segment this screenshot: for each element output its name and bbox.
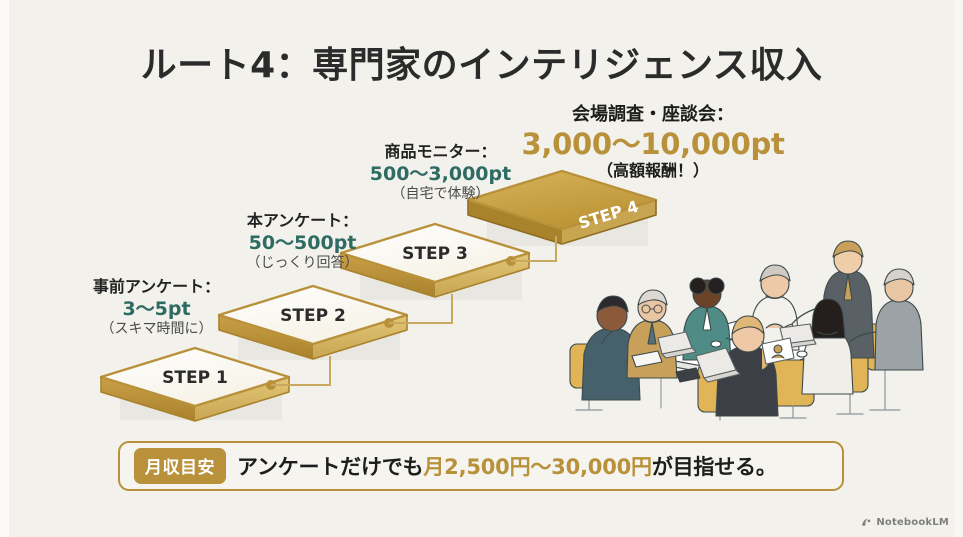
banner-text: アンケートだけでも月2,500円〜30,000円が目指せる。 [237,451,777,481]
platform-step-1[interactable]: STEP 1 [101,348,289,421]
step-1-title: 事前アンケート： [54,278,259,297]
banner-pill-label: 月収目安 [134,448,226,484]
page-title: ルート4：専門家のインテリジェンス収入 [0,36,963,88]
meeting-illustration [566,232,958,424]
connector-dot-step-3 [506,256,516,266]
step-1-value: 3〜5pt [54,298,259,320]
step-2-annotation: 本アンケート： 50〜500pt （じっくり回答） [200,212,405,272]
step-1-note: （スキマ時間に） [54,321,259,338]
notebooklm-logo-icon [861,517,872,528]
connector-dot-step-1 [266,380,276,390]
step-1-annotation: 事前アンケート： 3〜5pt （スキマ時間に） [54,278,259,338]
banner-text-lead: アンケートだけでも [237,455,423,479]
step-2-note: （じっくり回答） [200,255,405,272]
step-2-value: 50〜500pt [200,232,405,254]
watermark-label: NotebookLM [876,517,949,528]
step-2-title: 本アンケート： [200,212,405,231]
step-4-value: 3,000〜10,000pt [498,127,808,161]
slide-canvas: ルート4：専門家のインテリジェンス収入 [0,0,963,537]
banner-text-tail: が目指せる。 [652,455,777,479]
banner-text-highlight: 月2,500円〜30,000円 [423,455,651,479]
step-3-note: （自宅で体験） [338,186,543,203]
step-4-annotation: 会場調査・座談会： 3,000〜10,000pt （高額報酬！） [498,104,808,181]
notebooklm-watermark: NotebookLM [861,517,949,528]
platform-label-step-1: STEP 1 [162,368,228,388]
platform-label-step-3: STEP 3 [402,244,468,264]
summary-banner: 月収目安 アンケートだけでも月2,500円〜30,000円が目指せる。 [118,441,844,491]
platform-label-step-4: STEP 4 [576,197,641,233]
step-4-note: （高額報酬！） [498,162,808,181]
step-4-title: 会場調査・座談会： [498,104,808,125]
platform-label-step-2: STEP 2 [280,306,346,326]
connector-dot-step-2 [384,318,394,328]
